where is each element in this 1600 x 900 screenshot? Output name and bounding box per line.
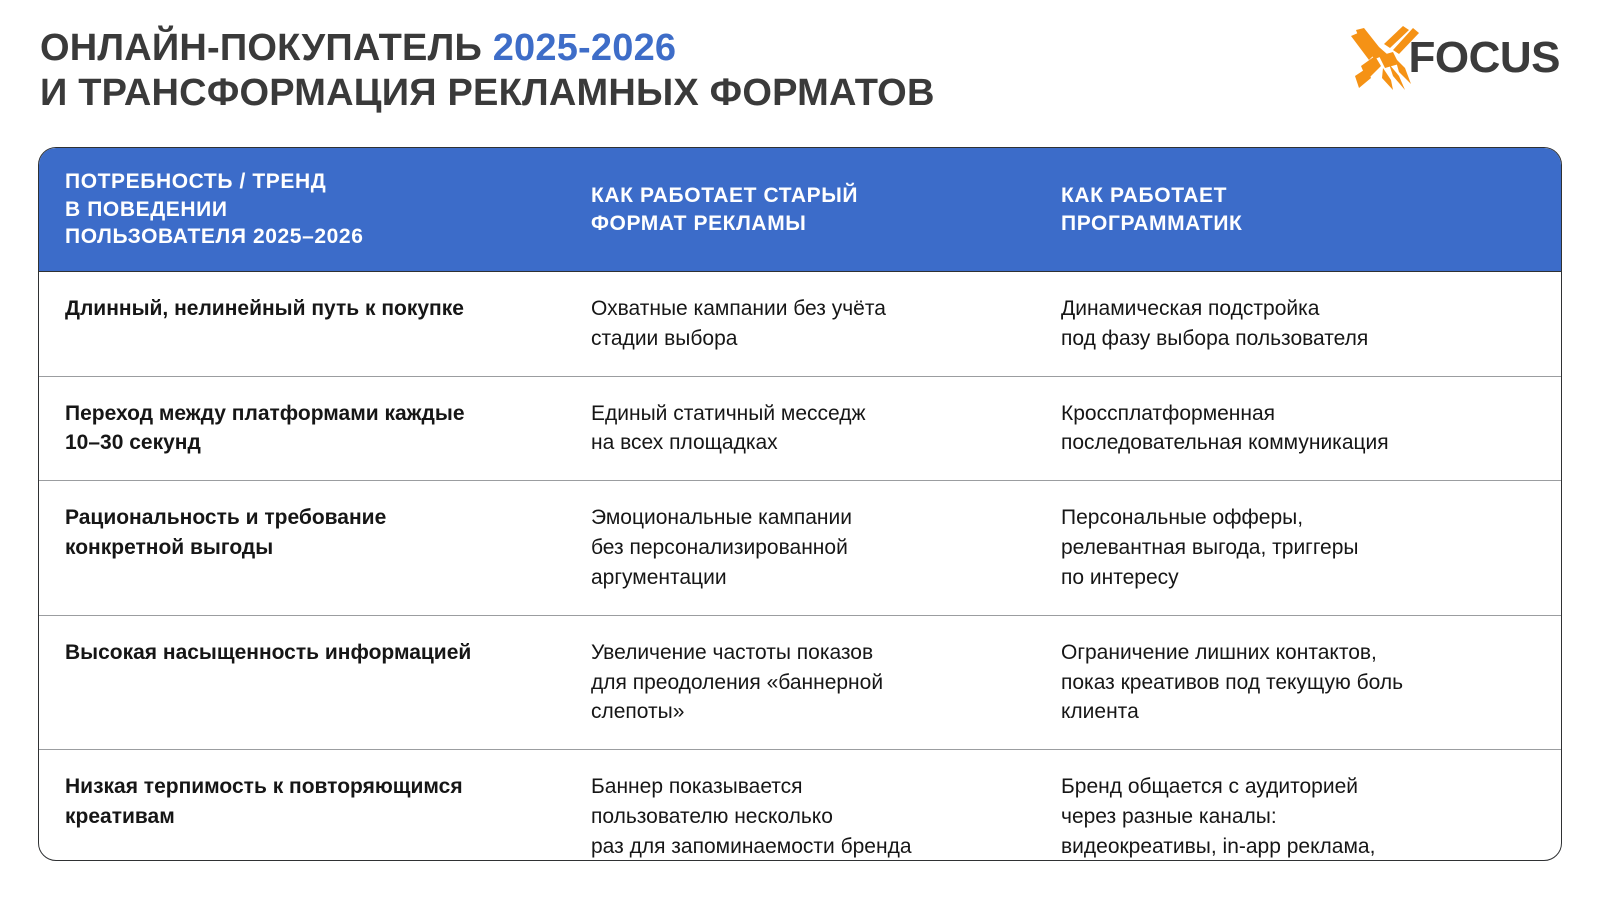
infographic-page: ОНЛАЙН-ПОКУПАТЕЛЬ 2025-2026 И ТРАНСФОРМА…	[0, 0, 1600, 900]
column-header-old-format: КАК РАБОТАЕТ СТАРЫЙ ФОРМАТ РЕКЛАМЫ	[569, 170, 1039, 249]
cell-old-format: Единый статичный месседж на всех площадк…	[569, 377, 1039, 481]
table-row: Низкая терпимость к повторяющимся креати…	[39, 750, 1561, 861]
table-row: Высокая насыщенность информацией Увеличе…	[39, 616, 1561, 750]
title-line-1: ОНЛАЙН-ПОКУПАТЕЛЬ 2025-2026	[40, 26, 935, 71]
cell-need: Низкая терпимость к повторяющимся креати…	[39, 750, 569, 854]
logo-wordmark: FOCUS	[1409, 36, 1561, 80]
table-row: Переход между платформами каждые 10–30 с…	[39, 377, 1561, 482]
comparison-table: ПОТРЕБНОСТЬ / ТРЕНД В ПОВЕДЕНИИ ПОЛЬЗОВА…	[38, 147, 1562, 861]
x-burst-icon	[1349, 24, 1425, 92]
cell-need: Высокая насыщенность информацией	[39, 616, 569, 690]
title-line-1-accent: 2025-2026	[493, 27, 677, 69]
column-header-programmatic: КАК РАБОТАЕТ ПРОГРАММАТИК	[1039, 170, 1561, 249]
cell-programmatic: Бренд общается с аудиторией через разные…	[1039, 750, 1561, 861]
cell-old-format: Охватные кампании без учёта стадии выбор…	[569, 272, 1039, 376]
cell-need: Длинный, нелинейный путь к покупке	[39, 272, 569, 346]
title-line-1-main: ОНЛАЙН-ПОКУПАТЕЛЬ	[40, 27, 493, 69]
cell-programmatic: Динамическая подстройка под фазу выбора …	[1039, 272, 1561, 376]
page-title: ОНЛАЙН-ПОКУПАТЕЛЬ 2025-2026 И ТРАНСФОРМА…	[40, 26, 935, 116]
cell-old-format: Эмоциональные кампании без персонализиро…	[569, 481, 1039, 614]
table-header-row: ПОТРЕБНОСТЬ / ТРЕНД В ПОВЕДЕНИИ ПОЛЬЗОВА…	[39, 148, 1561, 272]
title-line-2: И ТРАНСФОРМАЦИЯ РЕКЛАМНЫХ ФОРМАТОВ	[40, 71, 935, 116]
cell-need: Переход между платформами каждые 10–30 с…	[39, 377, 569, 481]
column-header-need: ПОТРЕБНОСТЬ / ТРЕНД В ПОВЕДЕНИИ ПОЛЬЗОВА…	[39, 156, 569, 263]
cell-programmatic: Ограничение лишних контактов, показ креа…	[1039, 616, 1561, 749]
cell-programmatic: Персональные офферы, релевантная выгода,…	[1039, 481, 1561, 614]
cell-programmatic: Кроссплатформенная последовательная комм…	[1039, 377, 1561, 481]
table-row: Длинный, нелинейный путь к покупке Охват…	[39, 272, 1561, 377]
cell-need: Рациональность и требование конкретной в…	[39, 481, 569, 585]
header-bar: ОНЛАЙН-ПОКУПАТЕЛЬ 2025-2026 И ТРАНСФОРМА…	[0, 0, 1600, 130]
cell-old-format: Увеличение частоты показов для преодолен…	[569, 616, 1039, 749]
brand-logo[interactable]: FOCUS	[1349, 24, 1561, 92]
cell-old-format: Баннер показывается пользователю несколь…	[569, 750, 1039, 861]
table-row: Рациональность и требование конкретной в…	[39, 481, 1561, 615]
